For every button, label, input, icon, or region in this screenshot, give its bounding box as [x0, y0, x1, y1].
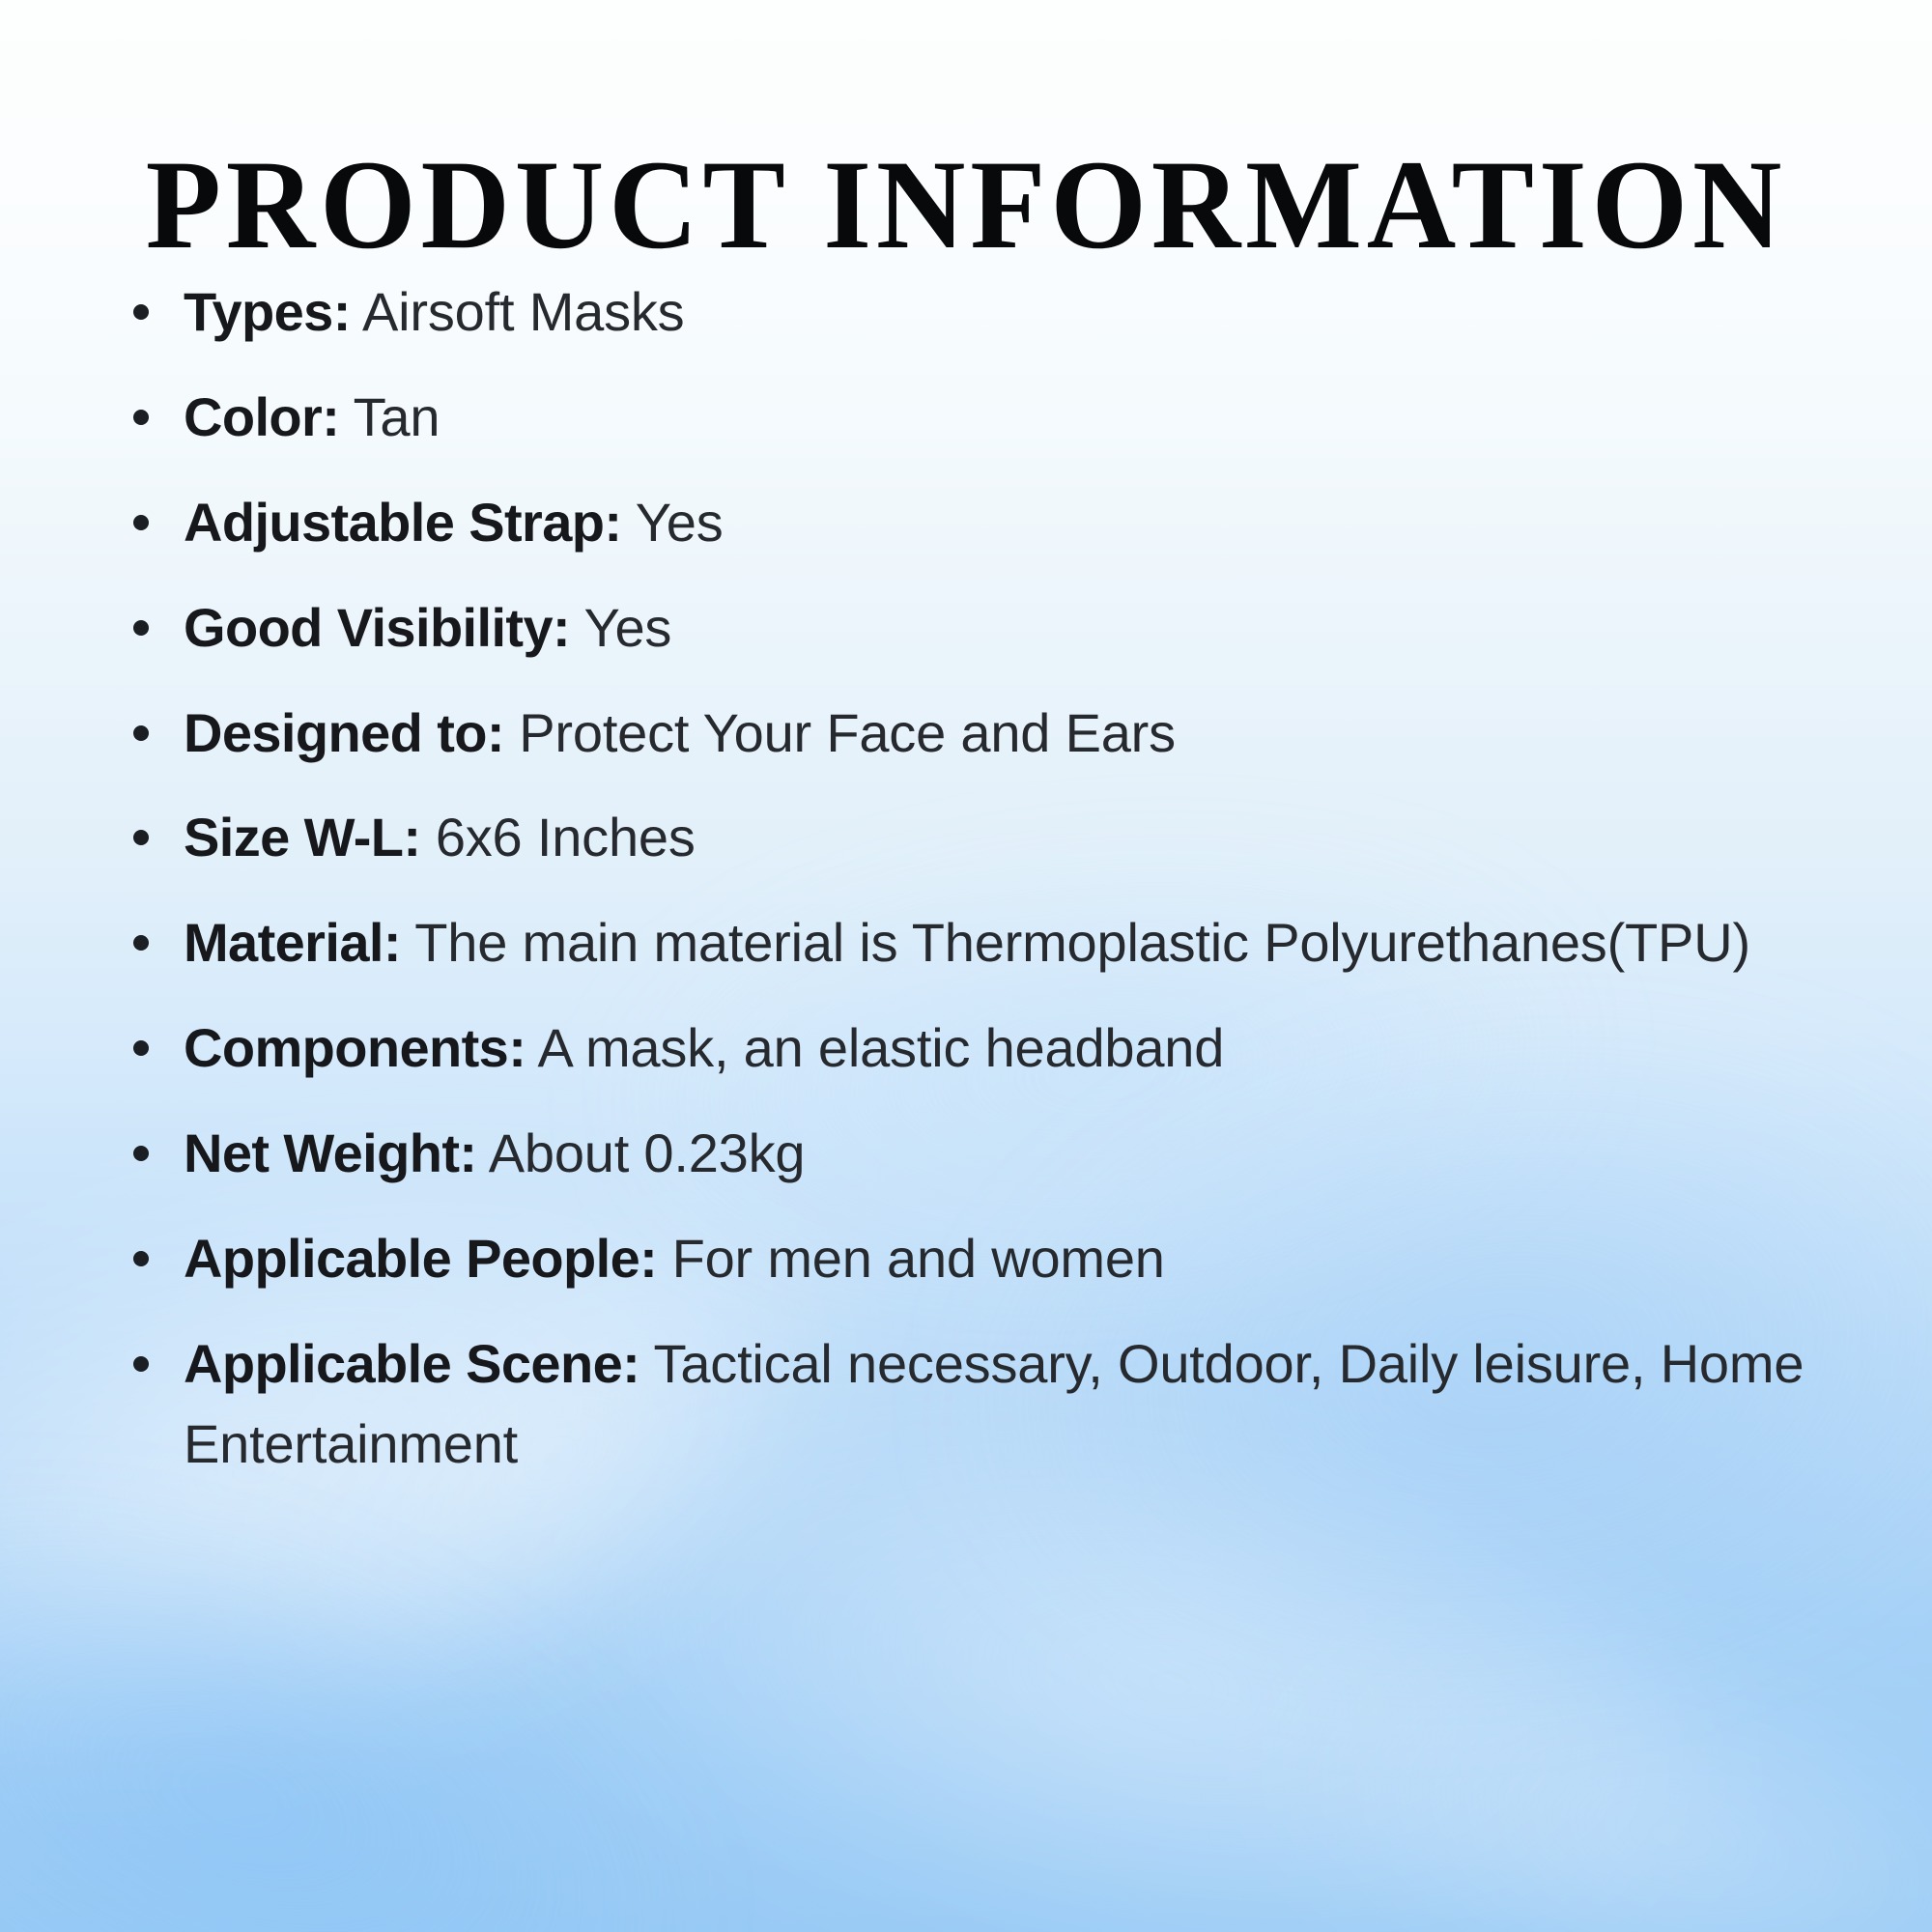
spec-item: Applicable People: For men and women: [126, 1219, 1826, 1299]
spec-list: Types: Airsoft MasksColor: TanAdjustable…: [126, 272, 1826, 1510]
spec-value: Airsoft Masks: [362, 281, 684, 342]
spec-value: About 0.23kg: [489, 1122, 806, 1183]
spec-value: 6x6 Inches: [436, 807, 696, 867]
bullet-icon: [133, 830, 149, 845]
spec-item: Good Visibility: Yes: [126, 588, 1826, 668]
bullet-icon: [133, 410, 149, 425]
spec-value: Yes: [636, 492, 724, 553]
spec-item: Color: Tan: [126, 378, 1826, 458]
bullet-icon: [133, 304, 149, 320]
bullet-icon: [133, 515, 149, 530]
spec-value: The main material is Thermoplastic Polyu…: [414, 912, 1750, 973]
bullet-icon: [133, 620, 149, 636]
spec-item: Types: Airsoft Masks: [126, 272, 1826, 353]
bullet-icon: [133, 1146, 149, 1161]
spec-value: A mask, an elastic headband: [538, 1017, 1225, 1078]
bullet-icon: [133, 1356, 149, 1372]
spec-value: For men and women: [672, 1228, 1165, 1289]
spec-item: Material: The main material is Thermopla…: [126, 903, 1826, 983]
spec-item: Designed to: Protect Your Face and Ears: [126, 694, 1826, 774]
bullet-icon: [133, 725, 149, 741]
spec-label: Components:: [184, 1017, 526, 1078]
spec-label: Color:: [184, 386, 339, 447]
spec-item: Size W-L: 6x6 Inches: [126, 798, 1826, 878]
bullet-icon: [133, 1040, 149, 1056]
spec-value: Yes: [583, 597, 671, 658]
spec-label: Material:: [184, 912, 401, 973]
spec-label: Types:: [184, 281, 351, 342]
spec-value: Protect Your Face and Ears: [519, 702, 1176, 763]
spec-label: Designed to:: [184, 702, 504, 763]
bullet-icon: [133, 935, 149, 951]
spec-item: Net Weight: About 0.23kg: [126, 1114, 1826, 1194]
spec-label: Adjustable Strap:: [184, 492, 621, 553]
spec-label: Net Weight:: [184, 1122, 476, 1183]
spec-item: Components: A mask, an elastic headband: [126, 1009, 1826, 1089]
bullet-icon: [133, 1251, 149, 1266]
spec-value: Tan: [354, 386, 440, 447]
spec-item: Adjustable Strap: Yes: [126, 483, 1826, 563]
spec-label: Applicable People:: [184, 1228, 657, 1289]
spec-item: Applicable Scene: Tactical necessary, Ou…: [126, 1324, 1826, 1485]
spec-label: Size W-L:: [184, 807, 420, 867]
page-title: PRODUCT INFORMATION: [29, 141, 1903, 269]
spec-label: Applicable Scene:: [184, 1333, 639, 1394]
spec-label: Good Visibility:: [184, 597, 570, 658]
product-information-card: PRODUCT INFORMATION Types: Airsoft Masks…: [0, 0, 1932, 1932]
